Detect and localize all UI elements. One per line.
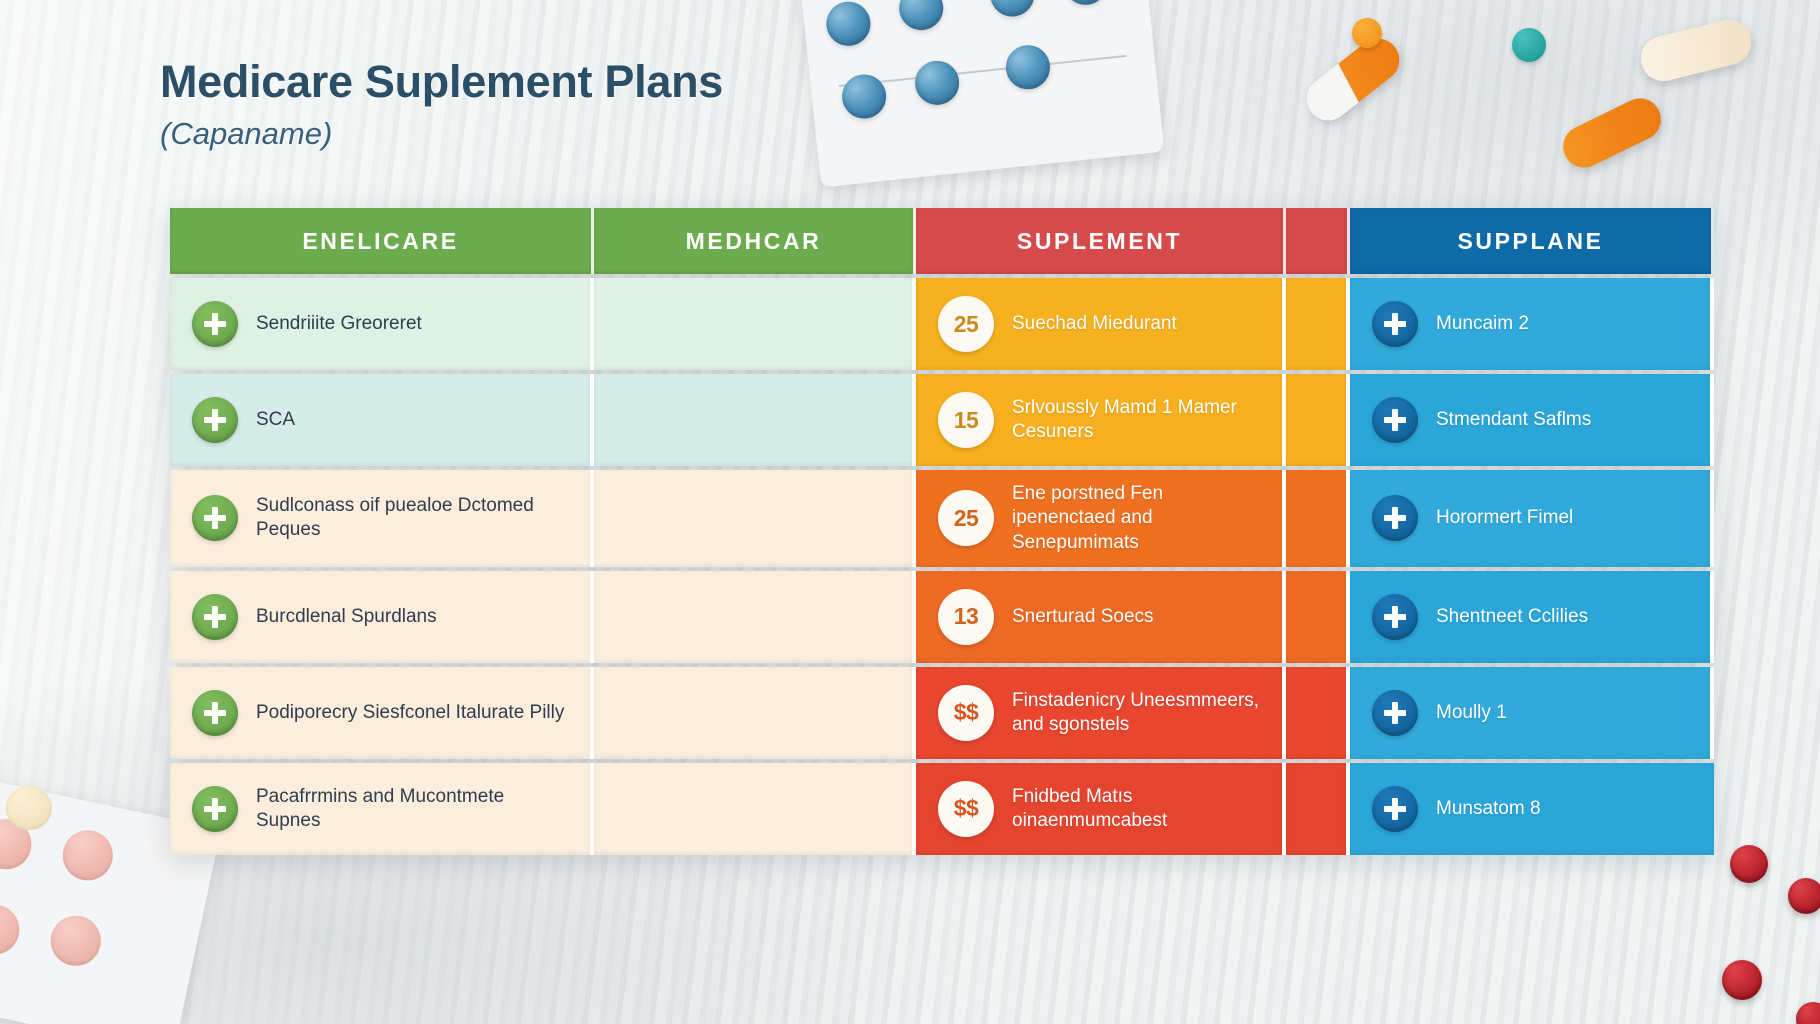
table-cell-medhcar[interactable] <box>594 470 916 567</box>
comparison-table: ENELICAREMEDHCARSUPLEMENTSUPPLANESendrii… <box>170 208 1714 855</box>
plus-icon <box>1372 397 1418 443</box>
table-row[interactable]: Sudlconass oif puealoe Dctomed Peques <box>170 470 594 567</box>
plus-icon <box>1372 301 1418 347</box>
cell-label: Munsatom 8 <box>1436 797 1541 821</box>
plus-icon <box>1372 786 1418 832</box>
cell-label: Suechad Miedurant <box>1012 312 1177 336</box>
page-title: Medicare Suplement Plans <box>160 56 723 108</box>
table-cell-suplement[interactable]: 13Snerturad Soecs <box>916 571 1286 663</box>
table-cell-suplement[interactable]: 25Ene porstned Fen ipenenctaed and Senep… <box>916 470 1286 567</box>
count-badge: 13 <box>938 589 994 645</box>
table-cell-spacer <box>1286 278 1350 370</box>
table-row[interactable]: Podiporecry Siesfconel Italurate Pilly <box>170 667 594 759</box>
table-header-column-enelicare: ENELICARE <box>170 208 594 274</box>
cell-label: Moully 1 <box>1436 701 1507 725</box>
cell-label: Sendriiite Greoreret <box>256 312 422 336</box>
table-cell-supplane[interactable]: Shentneet Cclilies <box>1350 571 1714 663</box>
plus-icon <box>192 397 238 443</box>
cell-label: Fnidbed Matıs oinaenmumcabest <box>1012 785 1262 834</box>
page-subtitle: (Capaname) <box>160 116 723 152</box>
table-row[interactable]: SCA <box>170 374 594 466</box>
table-cell-spacer <box>1286 571 1350 663</box>
plus-icon <box>192 594 238 640</box>
title-block: Medicare Suplement Plans (Capaname) <box>160 56 723 152</box>
cell-label: Snerturad Soecs <box>1012 605 1154 629</box>
table-cell-supplane[interactable]: Munsatom 8 <box>1350 763 1714 855</box>
cell-label: Stmendant Saflms <box>1436 408 1591 432</box>
plus-icon <box>192 301 238 347</box>
table-cell-supplane[interactable]: Horormert Fimel <box>1350 470 1714 567</box>
cell-label: SCA <box>256 408 295 432</box>
cell-label: Finstadenicry Uneesmmeers, and sgonstels <box>1012 689 1262 738</box>
table-cell-spacer <box>1286 374 1350 466</box>
count-badge: 15 <box>938 392 994 448</box>
cell-label: Srlvoussly Mamd 1 Mamer Cesuners <box>1012 396 1262 445</box>
cost-badge: $$ <box>938 685 994 741</box>
table-cell-suplement[interactable]: $$Fnidbed Matıs oinaenmumcabest <box>916 763 1286 855</box>
table-cell-medhcar[interactable] <box>594 667 916 759</box>
table-row[interactable]: Burcdlenal Spurdlans <box>170 571 594 663</box>
table-cell-supplane[interactable]: Muncaim 2 <box>1350 278 1714 370</box>
cell-label: Shentneet Cclilies <box>1436 605 1588 629</box>
table-cell-supplane[interactable]: Stmendant Saflms <box>1350 374 1714 466</box>
table-cell-medhcar[interactable] <box>594 571 916 663</box>
count-badge: 25 <box>938 296 994 352</box>
table-cell-medhcar[interactable] <box>594 278 916 370</box>
table-cell-spacer <box>1286 763 1350 855</box>
count-badge: 25 <box>938 490 994 546</box>
table-cell-medhcar[interactable] <box>594 763 916 855</box>
table-cell-suplement[interactable]: 15Srlvoussly Mamd 1 Mamer Cesuners <box>916 374 1286 466</box>
cell-label: Muncaim 2 <box>1436 312 1529 336</box>
table-header-column-medhcar: MEDHCAR <box>594 208 916 274</box>
table-row[interactable]: Sendriiite Greoreret <box>170 278 594 370</box>
plus-icon <box>1372 690 1418 736</box>
table-cell-supplane[interactable]: Moully 1 <box>1350 667 1714 759</box>
cost-badge: $$ <box>938 781 994 837</box>
table-row[interactable]: Pacafrrmins and Mucontmete Supnes <box>170 763 594 855</box>
table-grid: ENELICAREMEDHCARSUPLEMENTSUPPLANESendrii… <box>170 208 1714 855</box>
cell-label: Ene porstned Fen ipenenctaed and Senepum… <box>1012 482 1262 555</box>
plus-icon <box>1372 594 1418 640</box>
table-header-column-supplane: SUPPLANE <box>1350 208 1714 274</box>
table-cell-suplement[interactable]: $$Finstadenicry Uneesmmeers, and sgonste… <box>916 667 1286 759</box>
cell-label: Sudlconass oif puealoe Dctomed Peques <box>256 494 570 543</box>
cell-label: Pacafrrmins and Mucontmete Supnes <box>256 785 570 834</box>
table-cell-medhcar[interactable] <box>594 374 916 466</box>
plus-icon <box>192 786 238 832</box>
table-cell-suplement[interactable]: 25Suechad Miedurant <box>916 278 1286 370</box>
cell-label: Podiporecry Siesfconel Italurate Pilly <box>256 701 564 725</box>
table-cell-spacer <box>1286 470 1350 567</box>
table-header-column-suplement: SUPLEMENT <box>916 208 1286 274</box>
cell-label: Burcdlenal Spurdlans <box>256 605 437 629</box>
table-header-column-spacer <box>1286 208 1350 274</box>
plus-icon <box>192 690 238 736</box>
cell-label: Horormert Fimel <box>1436 506 1573 530</box>
plus-icon <box>1372 495 1418 541</box>
plus-icon <box>192 495 238 541</box>
table-cell-spacer <box>1286 667 1350 759</box>
